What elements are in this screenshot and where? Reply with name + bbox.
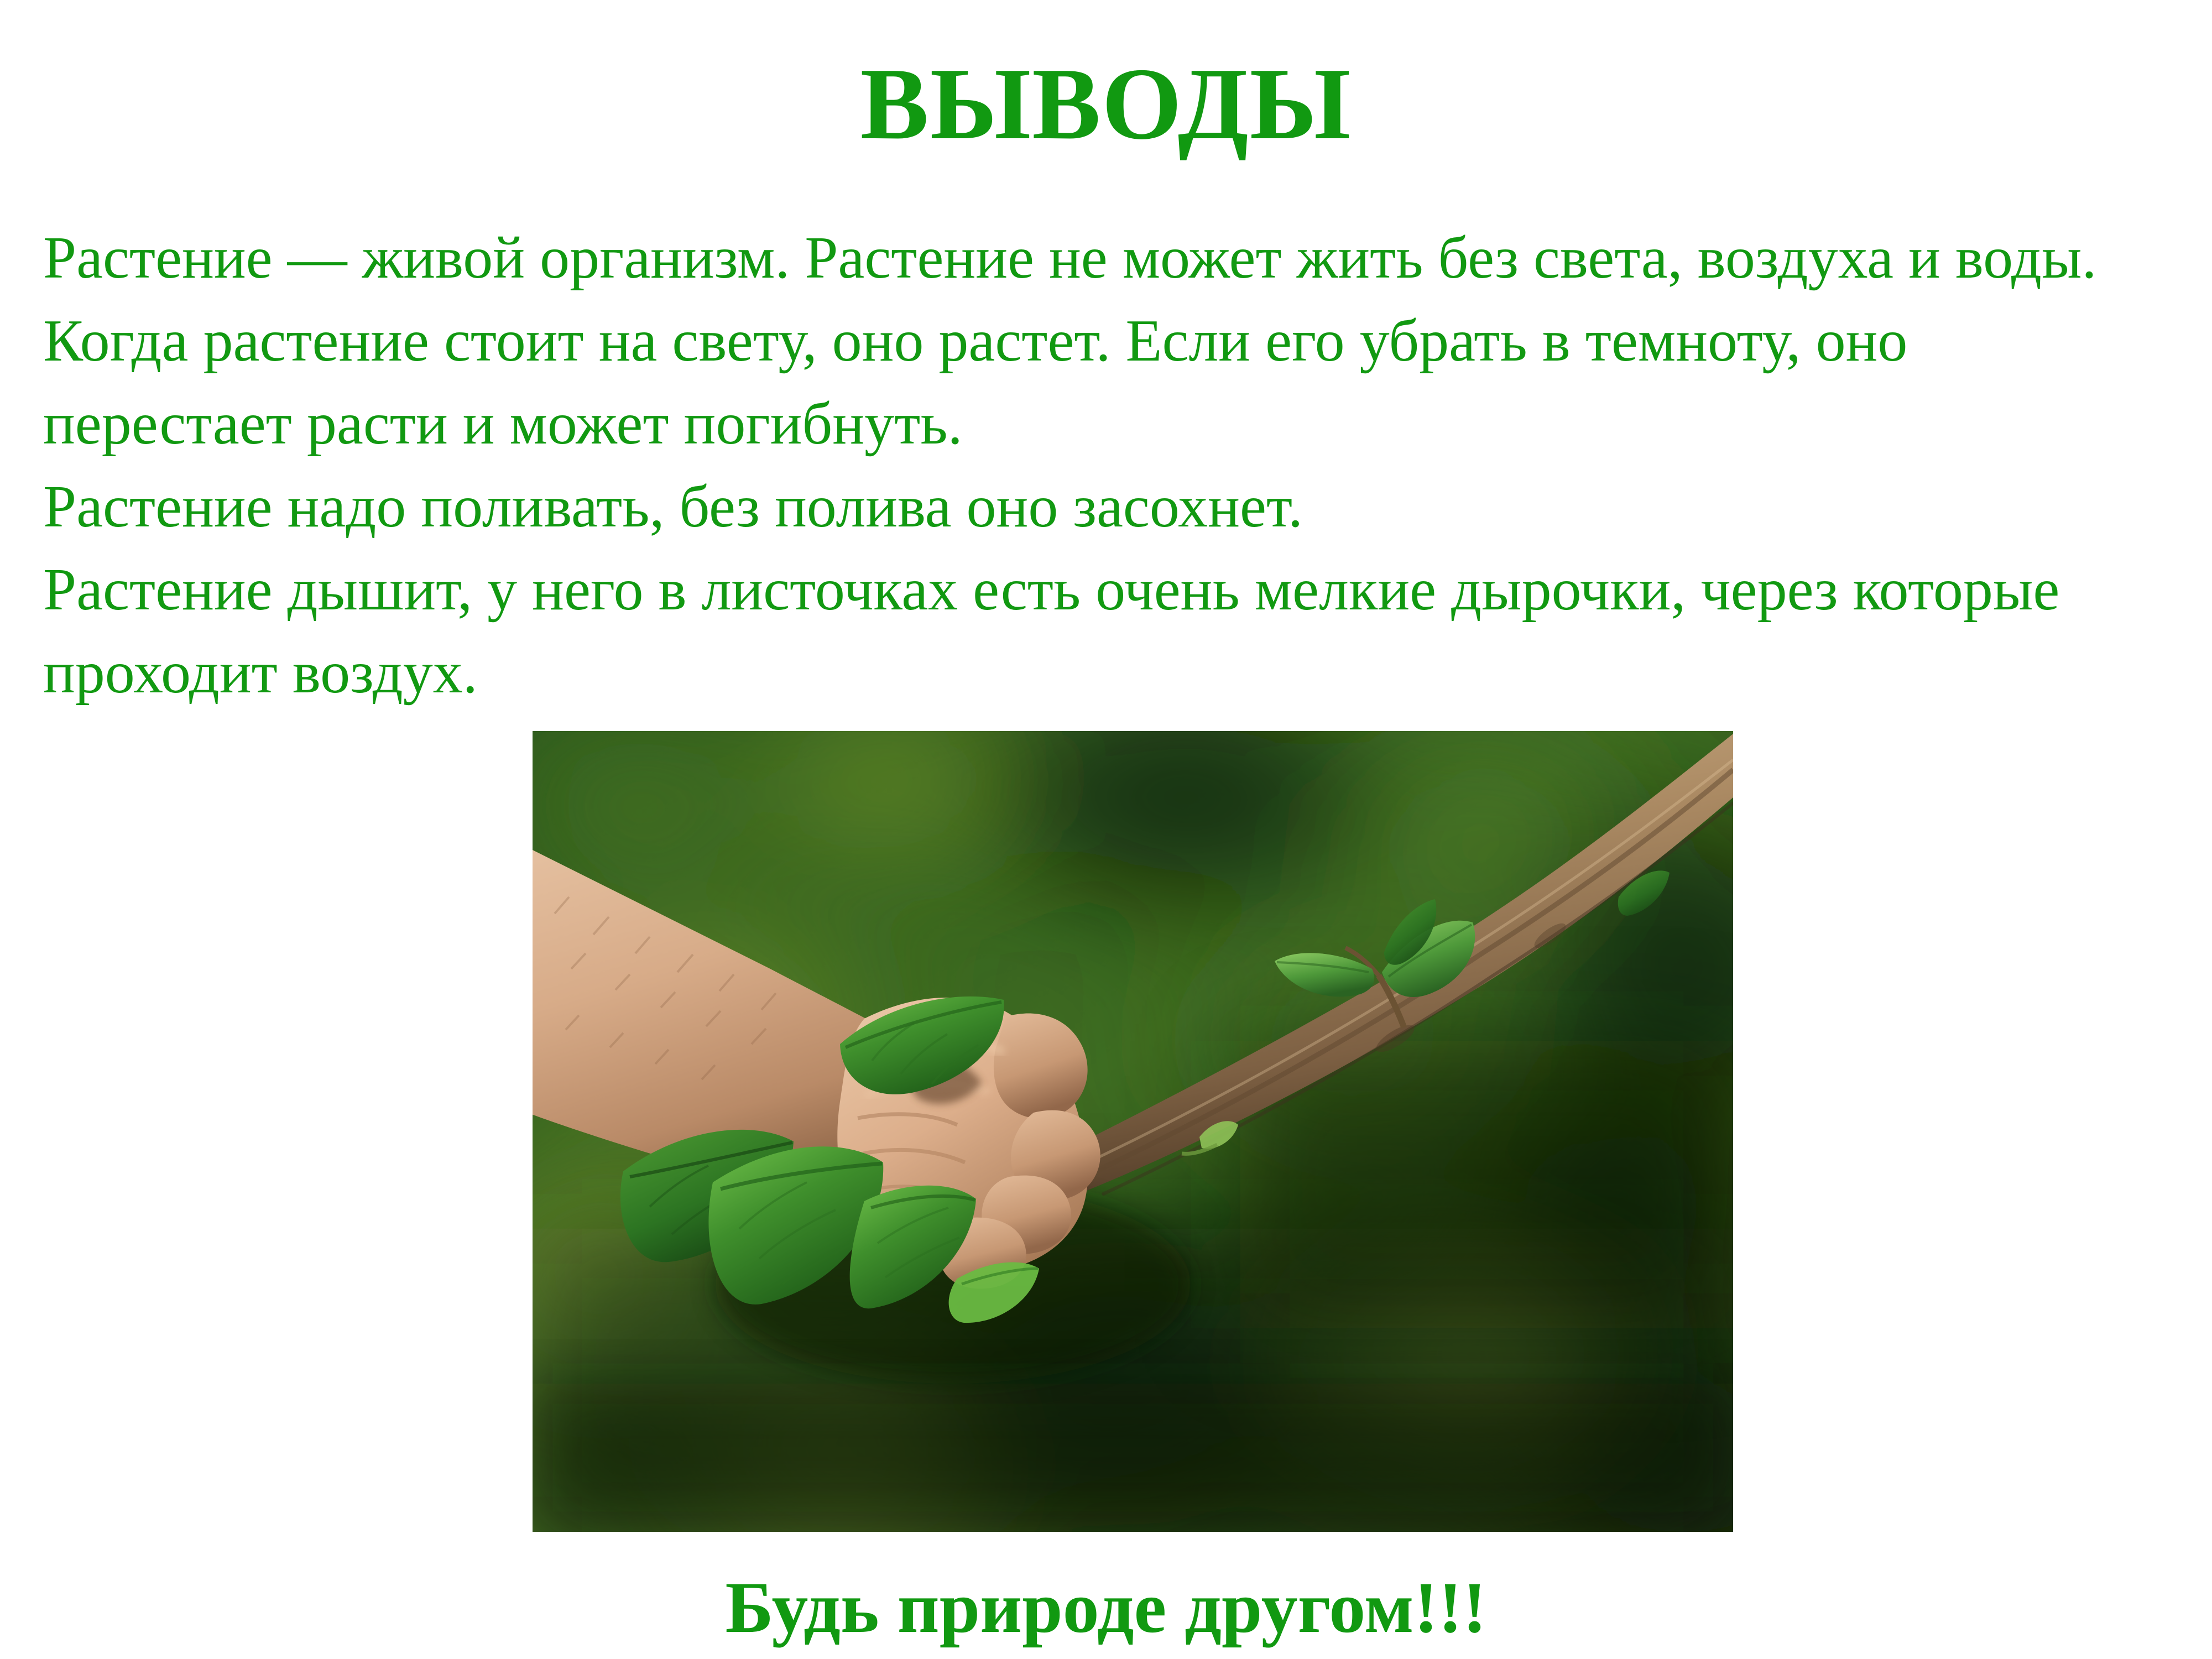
photo-illustration (533, 731, 1733, 1532)
presentation-slide: ВЫВОДЫ Растение — живой организм. Растен… (0, 0, 2212, 1659)
paragraph-1: Растение — живой организм. Растение не м… (43, 217, 2161, 466)
paragraph-3: Растение дышит, у него в листочках есть … (43, 549, 2161, 714)
paragraph-2: Растение надо поливать, без полива оно з… (43, 466, 2161, 549)
nature-handshake-photo (533, 731, 1733, 1532)
page-title: ВЫВОДЫ (0, 51, 2212, 158)
body-text-block: Растение — живой организм. Растение не м… (43, 217, 2161, 714)
slide-caption: Будь природе другом!!! (0, 1568, 2212, 1647)
